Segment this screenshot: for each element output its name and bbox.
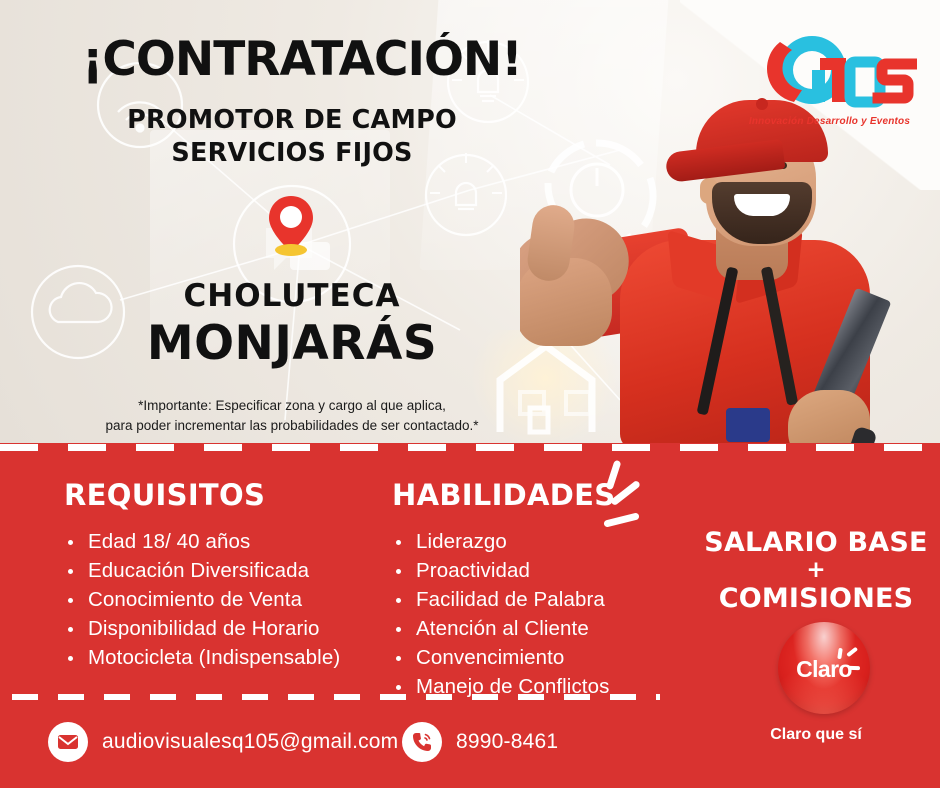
contact-phone[interactable]: 8990-8461 xyxy=(402,722,558,762)
claro-slogan: Claro que sí xyxy=(700,726,932,744)
list-item: Edad 18/ 40 años xyxy=(64,528,394,556)
phone-icon xyxy=(402,722,442,762)
dashed-divider-top xyxy=(0,444,940,451)
contact-email[interactable]: audiovisualesq105@gmail.com xyxy=(48,722,398,762)
location-pin-icon xyxy=(261,192,321,262)
email-text: audiovisualesq105@gmail.com xyxy=(102,730,398,754)
job-position-line2: SERVICIOS FIJOS xyxy=(82,137,502,170)
job-poster: ¡CONTRATACIÓN! PROMOTOR DE CAMPO SERVICI… xyxy=(0,0,940,788)
important-note-line2: para poder incrementar las probabilidade… xyxy=(52,416,532,436)
list-item: Conocimiento de Venta xyxy=(64,586,394,614)
salary-plus: + xyxy=(700,557,932,583)
requirements-list: Edad 18/ 40 años Educación Diversificada… xyxy=(64,528,394,672)
city-name: CHOLUTECA xyxy=(82,278,502,314)
important-note: *Importante: Especificar zona y cargo al… xyxy=(52,396,532,437)
list-item: Liderazgo xyxy=(392,528,692,556)
hero-section: ¡CONTRATACIÓN! PROMOTOR DE CAMPO SERVICI… xyxy=(0,0,940,443)
list-item: Disponibilidad de Horario xyxy=(64,615,394,643)
dashed-divider-footer xyxy=(12,694,660,700)
claro-logo: Claro xyxy=(778,622,870,714)
list-item: Proactividad xyxy=(392,557,692,585)
job-position: PROMOTOR DE CAMPO SERVICIOS FIJOS xyxy=(82,104,502,169)
skills-list: Liderazgo Proactividad Facilidad de Pala… xyxy=(392,528,692,701)
company-logo: Innovación Desarrollo y Eventos xyxy=(742,24,917,139)
important-note-line1: *Importante: Especificar zona y cargo al… xyxy=(52,396,532,416)
zone-name: MONJARÁS xyxy=(82,316,502,371)
envelope-icon xyxy=(48,722,88,762)
q105-logo-icon xyxy=(742,24,917,116)
salary-line1: SALARIO BASE xyxy=(700,528,932,557)
salary-block: SALARIO BASE + COMISIONES xyxy=(700,528,932,613)
list-item: Convencimiento xyxy=(392,644,692,672)
list-item: Atención al Cliente xyxy=(392,615,692,643)
phone-text: 8990-8461 xyxy=(456,730,558,754)
promoter-photo xyxy=(520,90,940,443)
list-item: Educación Diversificada xyxy=(64,557,394,585)
list-item: Motocicleta (Indispensable) xyxy=(64,644,394,672)
requirements-column: REQUISITOS Edad 18/ 40 años Educación Di… xyxy=(64,478,394,673)
job-position-line1: PROMOTOR DE CAMPO xyxy=(82,104,502,137)
sparkle-icon xyxy=(594,458,664,520)
list-item: Facilidad de Palabra xyxy=(392,586,692,614)
salary-line3: COMISIONES xyxy=(700,584,932,613)
requirements-heading: REQUISITOS xyxy=(64,478,394,512)
logo-tagline: Innovación Desarrollo y Eventos xyxy=(742,116,917,127)
page-title: ¡CONTRATACIÓN! xyxy=(82,32,502,87)
